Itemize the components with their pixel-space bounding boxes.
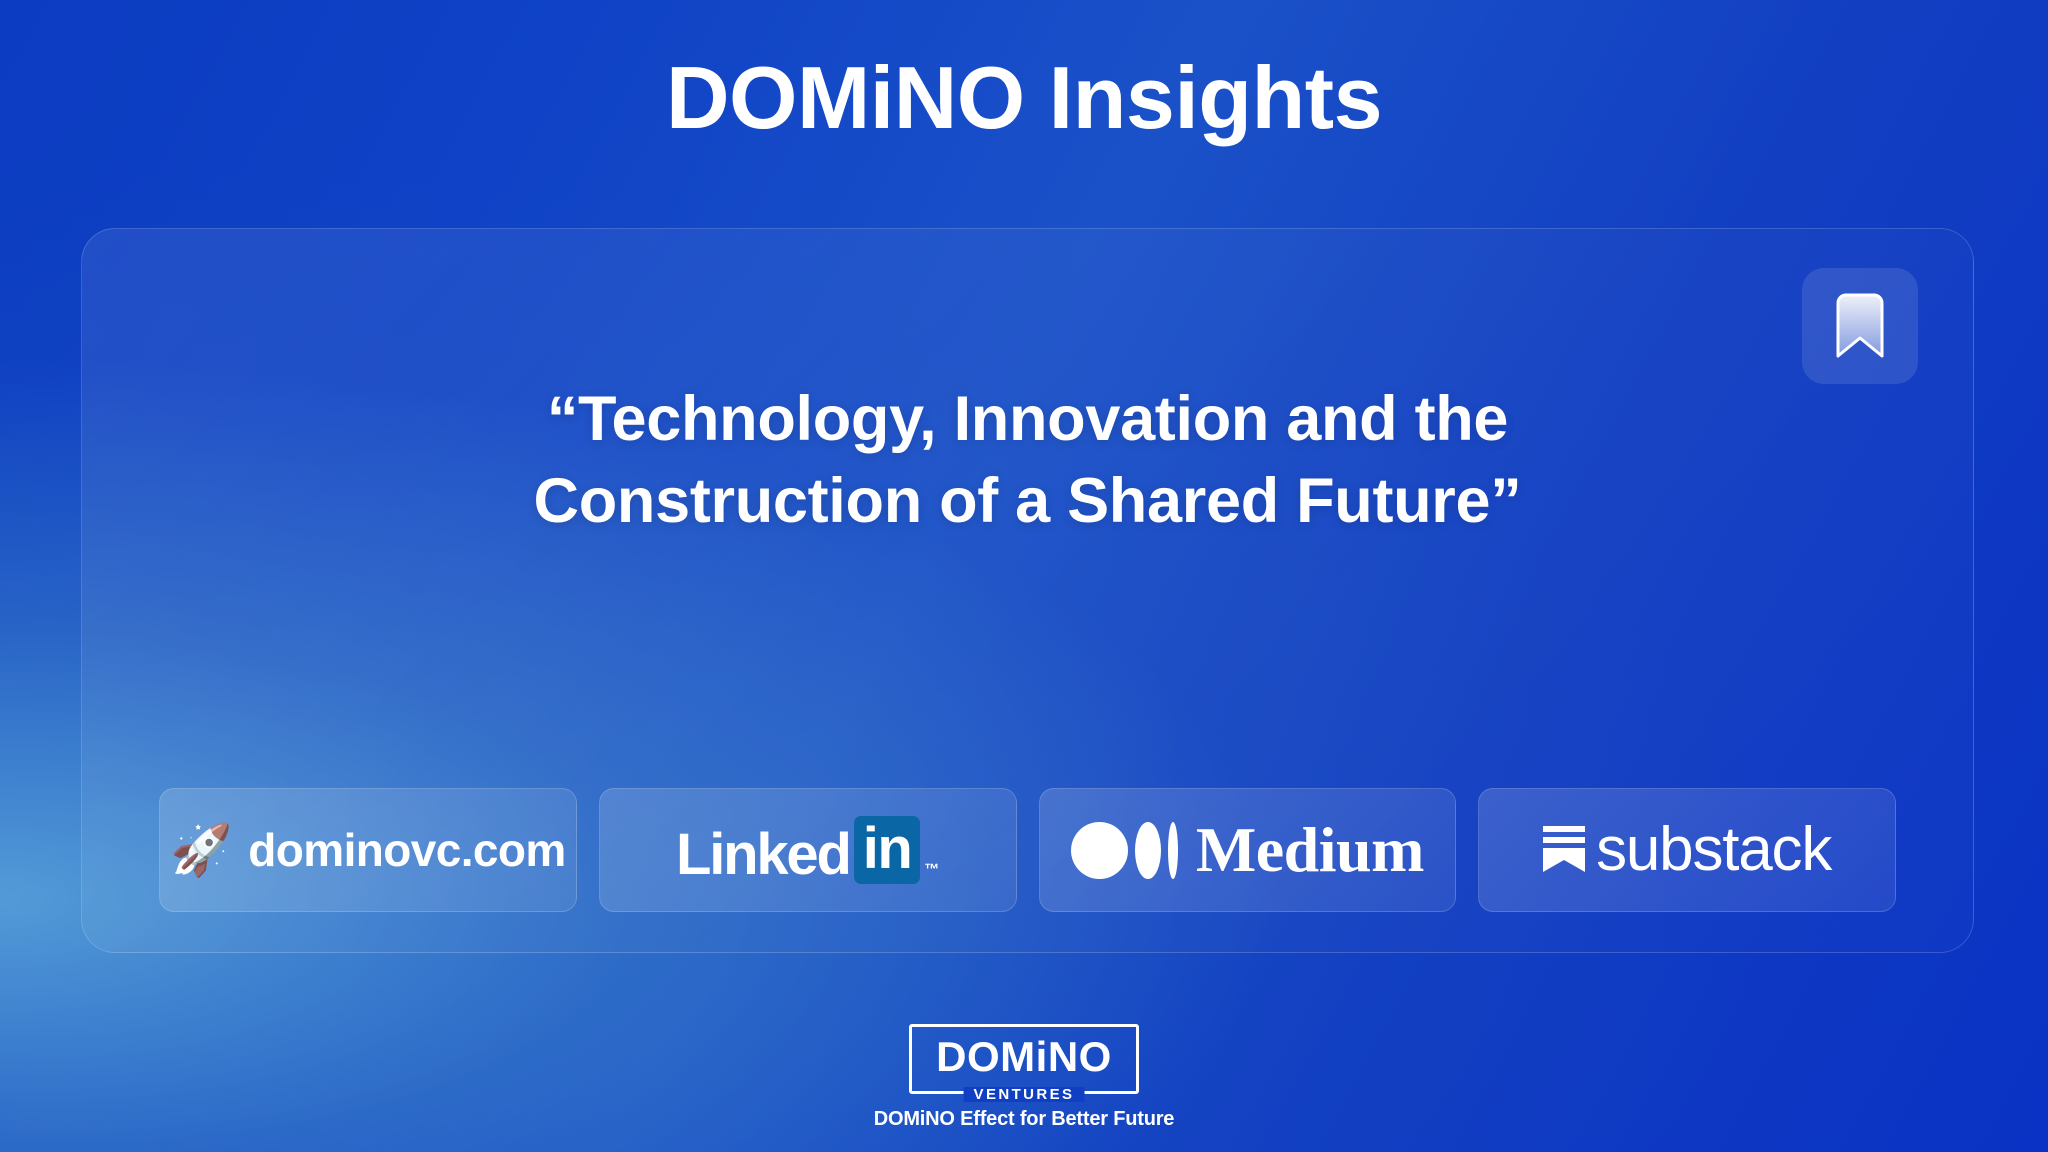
footer-logo-subword: VENTURES <box>964 1087 1085 1102</box>
link-button-medium[interactable]: Medium <box>1039 788 1457 912</box>
link-button-substack[interactable]: substack <box>1478 788 1896 912</box>
link-button-dominovc[interactable]: 🚀 dominovc.com <box>159 788 577 912</box>
quote-block: “Technology, Innovation and the Construc… <box>82 379 1973 543</box>
link-label-medium: Medium <box>1196 818 1424 882</box>
insight-card: “Technology, Innovation and the Construc… <box>81 228 1974 953</box>
linkedin-word-in: in <box>854 816 921 884</box>
quote-line-1: “Technology, Innovation and the <box>202 379 1853 461</box>
footer-logo-box: DOMiNO VENTURES <box>909 1024 1139 1094</box>
medium-ellipse-medium <box>1135 822 1161 879</box>
trademark-mark: ™ <box>924 861 939 878</box>
page-title: DOMiNO Insights <box>0 52 2048 144</box>
medium-ellipse-small <box>1168 822 1178 879</box>
links-row: 🚀 dominovc.com Linked in ™ Medium <box>159 788 1896 912</box>
link-button-linkedin[interactable]: Linked in ™ <box>599 788 1017 912</box>
linkedin-word-linked: Linked <box>676 826 850 884</box>
link-label-dominovc: dominovc.com <box>248 823 565 877</box>
quote-line-2: Construction of a Shared Future” <box>202 461 1853 543</box>
linkedin-icon: Linked in ™ <box>676 816 939 884</box>
bookmark-icon <box>1833 293 1887 359</box>
footer-logo-word: DOMiNO <box>936 1036 1112 1078</box>
link-label-substack: substack <box>1596 819 1831 881</box>
medium-icon: Medium <box>1071 818 1424 882</box>
footer-tagline: DOMiNO Effect for Better Future <box>874 1108 1174 1131</box>
bookmark-button[interactable] <box>1802 268 1918 384</box>
rocket-icon: 🚀 <box>170 825 232 875</box>
footer-logo: DOMiNO VENTURES DOMiNO Effect for Better… <box>0 1024 2048 1131</box>
medium-circle-large <box>1071 822 1128 879</box>
substack-logo: substack <box>1543 819 1831 881</box>
substack-icon <box>1543 824 1585 877</box>
medium-marks <box>1071 822 1178 879</box>
